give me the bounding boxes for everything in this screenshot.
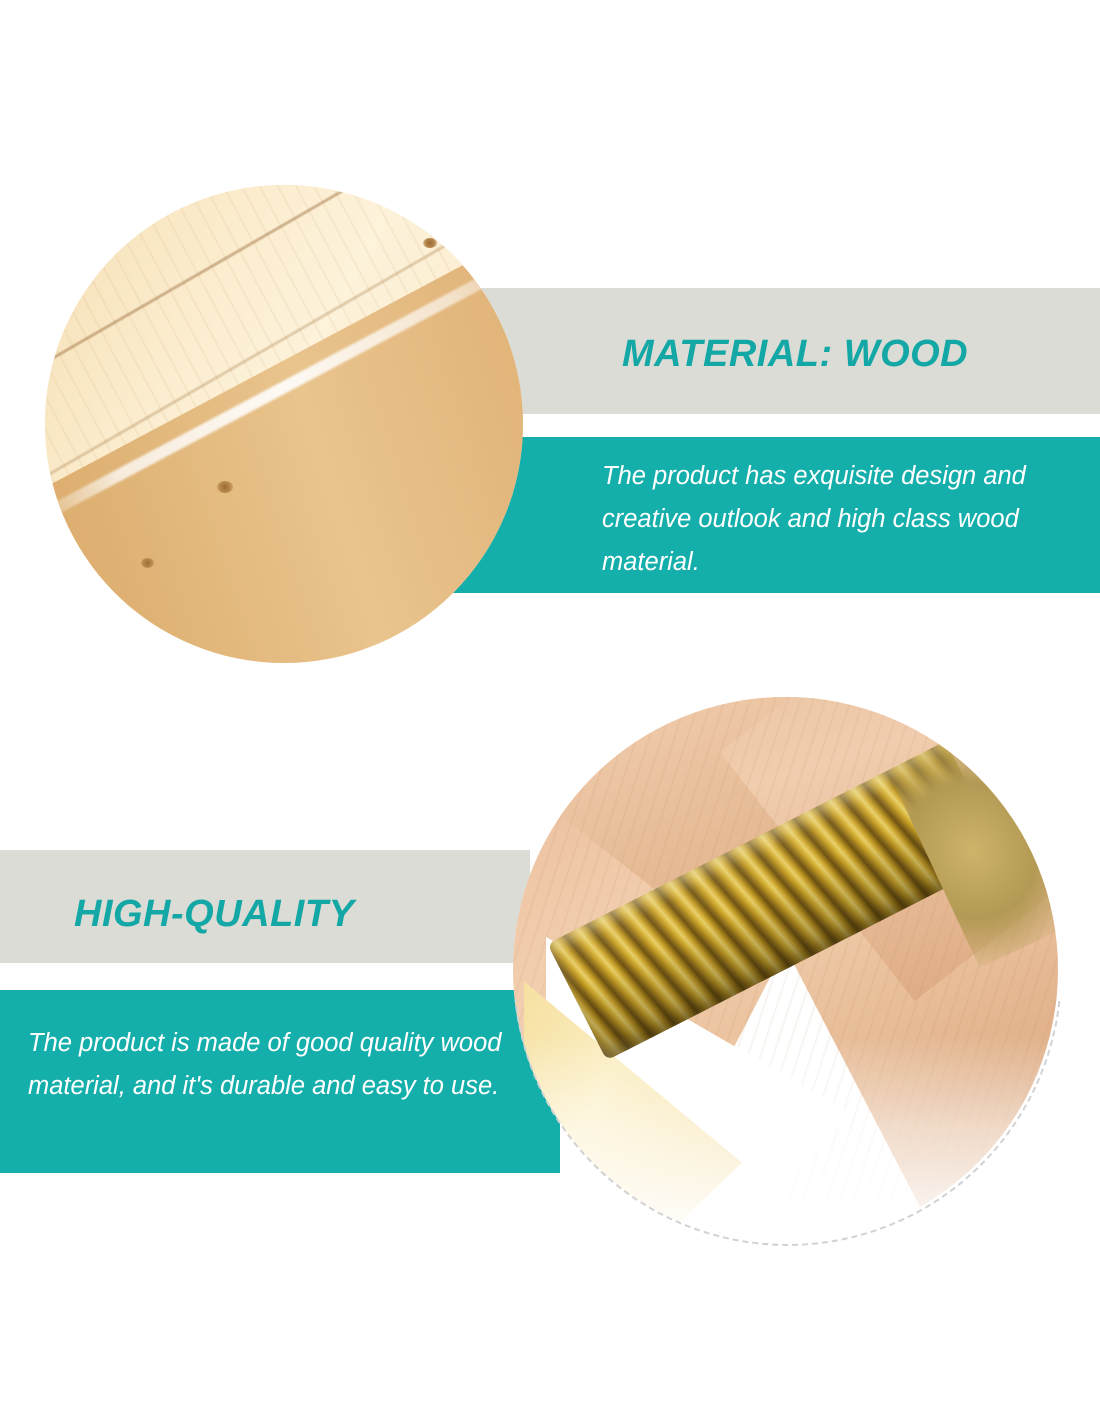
bolt-in-wood-photo xyxy=(513,697,1058,1242)
infographic-page: MATERIAL: WOOD The product has exquisite… xyxy=(0,0,1100,1422)
section-heading-material-wood: MATERIAL: WOOD xyxy=(622,333,968,376)
section-heading-high-quality: HIGH-QUALITY xyxy=(74,893,354,936)
section-body-high-quality: The product is made of good quality wood… xyxy=(28,1022,538,1108)
photo-bottom-fade xyxy=(513,1035,1058,1242)
section-body-material-wood: The product has exquisite design and cre… xyxy=(602,455,1062,584)
wood-knot-3 xyxy=(423,238,437,248)
wood-knot-2 xyxy=(141,558,154,568)
wood-block-photo xyxy=(45,185,523,663)
